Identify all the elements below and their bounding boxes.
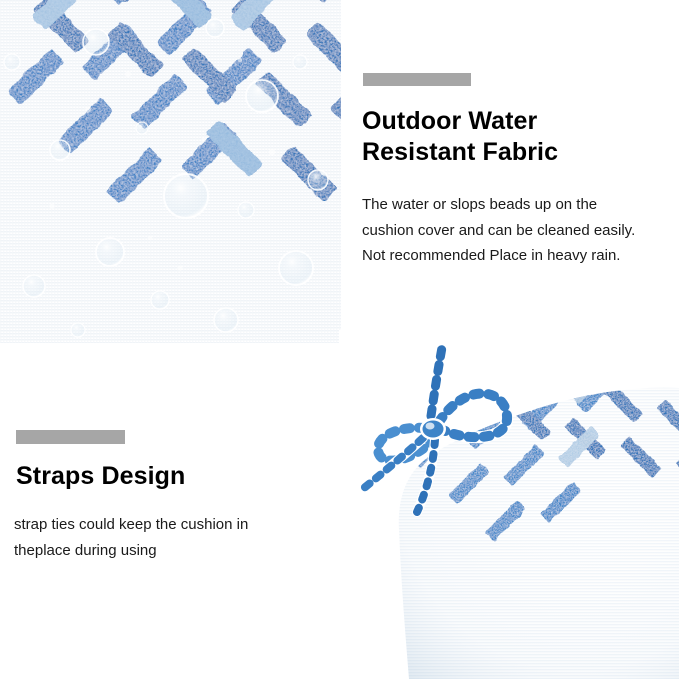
body-straps: strap ties could keep the cushion in the… [14,512,314,563]
cushion-strap-image [339,330,679,679]
infographic-page: Outdoor Water Resistant Fabric The water… [0,0,679,679]
cushion-body [339,330,679,679]
heading-straps: Straps Design [16,461,316,492]
fabric-swatch-graphic [0,0,341,343]
fabric-swatch-image [0,0,341,343]
body-water-resistant: The water or slops beads up on the cushi… [362,192,679,269]
accent-bar-straps [16,430,125,444]
accent-bar-water-resistant [363,73,471,86]
heading-water-resistant: Outdoor Water Resistant Fabric [362,106,662,168]
cushion-graphic [339,330,679,679]
